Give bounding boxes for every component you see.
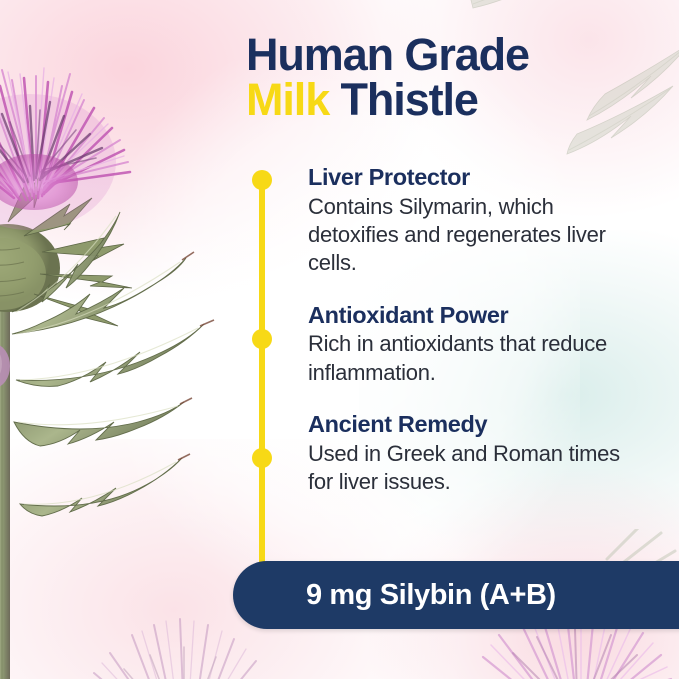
feature-body: Rich in antioxidants that reduce inflamm…	[308, 330, 648, 387]
feature-body: Used in Greek and Roman times for liver …	[308, 440, 648, 497]
timeline-dot-1	[252, 170, 272, 190]
page-title: Human Grade Milk Thistle	[246, 33, 666, 122]
feature-item-liver-protector: Liver Protector Contains Silymarin, whic…	[308, 163, 648, 278]
feature-list: Liver Protector Contains Silymarin, whic…	[308, 163, 648, 520]
feature-item-antioxidant-power: Antioxidant Power Rich in antioxidants t…	[308, 301, 648, 387]
timeline-connector-line	[259, 180, 265, 570]
feature-heading: Ancient Remedy	[308, 410, 648, 439]
feature-body: Contains Silymarin, which detoxifies and…	[308, 193, 648, 278]
dosage-banner: 9 mg Silybin (A+B)	[233, 561, 679, 629]
title-highlight-word: Milk	[246, 74, 329, 125]
timeline-dot-3	[252, 448, 272, 468]
product-infographic: Human Grade Milk Thistle Liver Protector…	[0, 0, 679, 679]
timeline-dot-2	[252, 329, 272, 349]
feature-heading: Antioxidant Power	[308, 301, 648, 330]
feature-heading: Liver Protector	[308, 163, 648, 192]
feature-item-ancient-remedy: Ancient Remedy Used in Greek and Roman t…	[308, 410, 648, 496]
title-line-2-rest: Thistle	[329, 74, 478, 125]
title-line-1: Human Grade	[246, 33, 666, 78]
dosage-banner-label: 9 mg Silybin (A+B)	[233, 579, 556, 612]
title-line-2: Milk Thistle	[246, 78, 666, 123]
